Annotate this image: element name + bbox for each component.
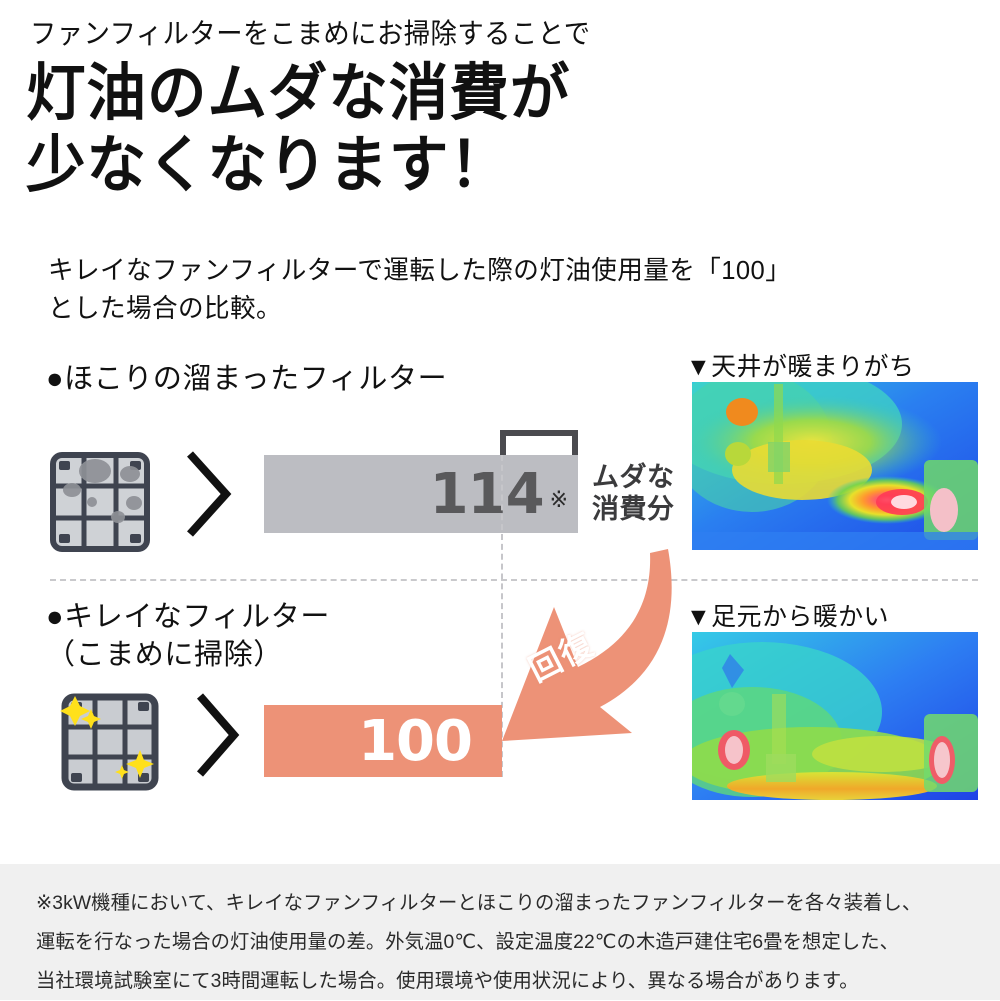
thermal-caption-ceiling: ▼天井が暖まりがち (686, 347, 914, 383)
thermal-image-floor (692, 632, 978, 800)
bar-value-clean: 100 (358, 709, 472, 774)
footnote-mark-icon: ※ (550, 487, 568, 513)
thermal-image-ceiling (692, 382, 978, 550)
waste-consumption-label: ムダな 消費分 (592, 462, 675, 526)
waste-bracket (500, 430, 578, 458)
row-label-dusty-filter: ●ほこりの溜まったフィルター (46, 360, 447, 398)
row-label-clean-filter: ●キレイなフィルター （こまめに掃除） (46, 598, 330, 675)
page-title: 灯油のムダな消費が 少なくなります！ (26, 58, 570, 202)
clean-filter-icon (58, 690, 162, 794)
chevron-right-icon-dusty (180, 448, 238, 540)
kicker-text: ファンフィルターをこまめにお掃除することで (30, 12, 590, 52)
description-text: キレイなファンフィルターで運転した際の灯油使用量を「100」 とした場合の比較。 (48, 252, 791, 327)
dusty-filter-icon (48, 450, 152, 554)
footnote-text: ※3kW機種において、キレイなファンフィルターとほこりの溜まったファンフィルター… (36, 884, 967, 1001)
infographic-page: ファンフィルターをこまめにお掃除することで 灯油のムダな消費が 少なくなります！… (0, 0, 1000, 1000)
chevron-right-icon-clean (190, 690, 246, 780)
thermal-caption-floor: ▼足元から暖かい (686, 597, 889, 633)
bar-dusty-filter: 114 ※ (264, 455, 578, 533)
bar-value-dusty: 114 (430, 462, 544, 527)
bar-clean-filter: 100 (264, 705, 502, 777)
